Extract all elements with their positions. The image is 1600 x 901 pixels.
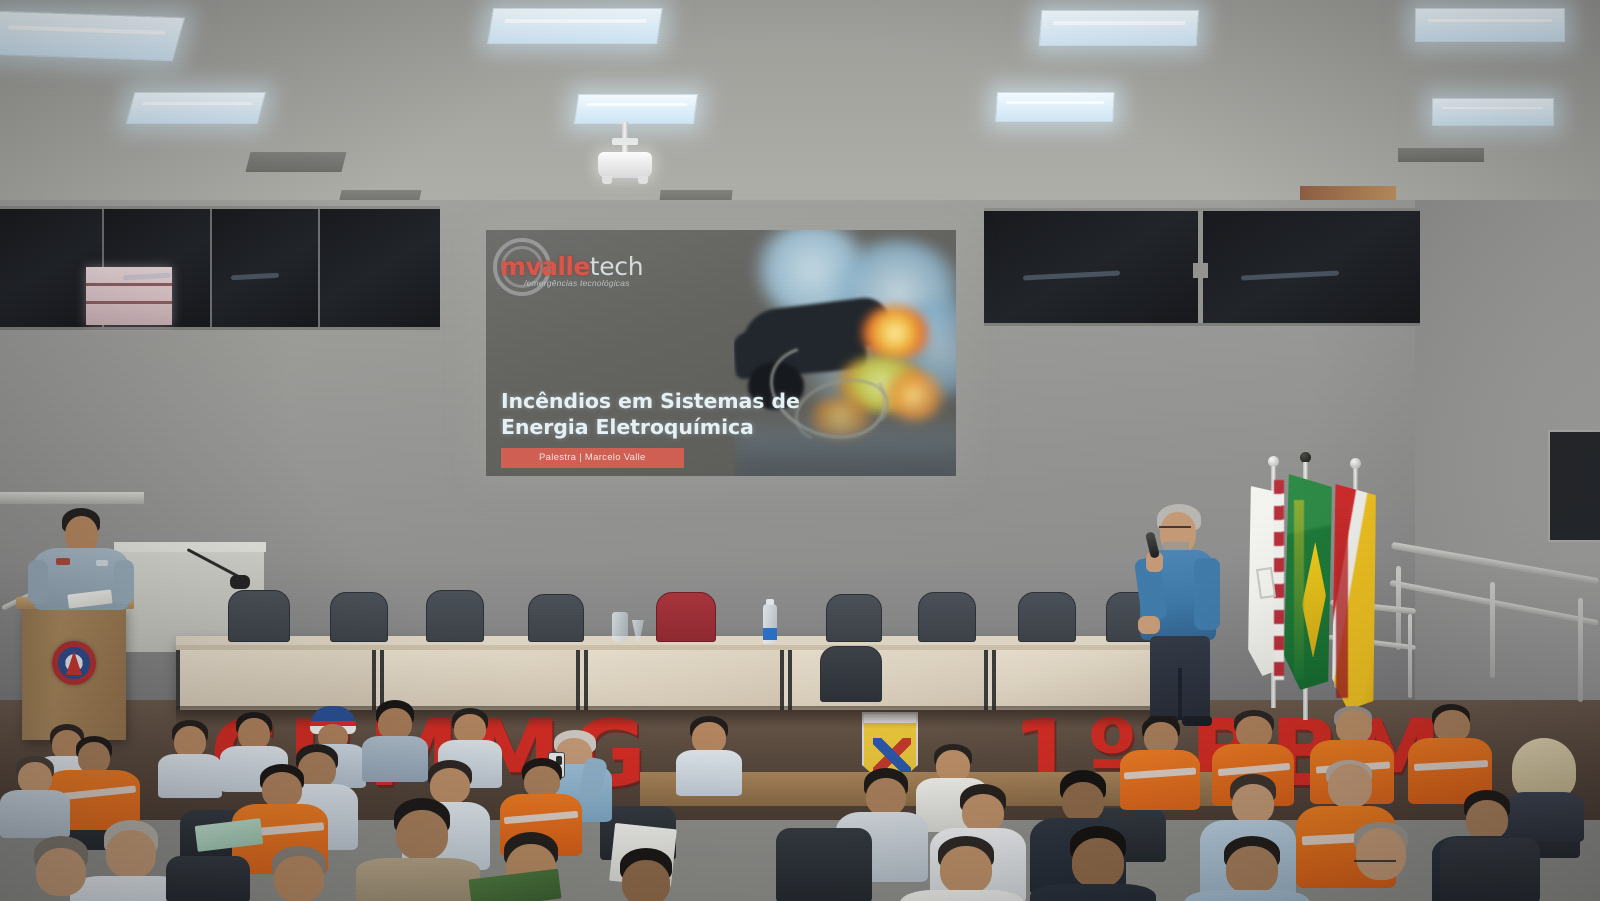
glass-pane xyxy=(320,209,440,327)
audience-chair xyxy=(776,828,872,901)
hand-gesture xyxy=(1138,616,1160,634)
table-microphone xyxy=(188,548,260,600)
wall-ledge xyxy=(0,492,144,504)
glass-pane xyxy=(984,211,1202,323)
rank-insignia xyxy=(96,560,108,566)
lit-window-behind-glass xyxy=(86,267,172,325)
audience-chair xyxy=(166,856,250,901)
audience-member xyxy=(1184,836,1310,901)
head xyxy=(274,856,324,901)
table-panel xyxy=(176,650,376,710)
glass-pane xyxy=(212,209,320,327)
arm xyxy=(1194,558,1220,630)
shirt xyxy=(0,790,70,838)
logo-secondary-text: tech xyxy=(590,252,644,281)
table-chair xyxy=(1018,592,1076,642)
table-panel xyxy=(584,650,784,710)
ceiling-light-panel-off xyxy=(246,152,347,172)
ceiling-light-panel xyxy=(487,8,663,44)
audience-member xyxy=(676,716,742,794)
ceiling-light-panel xyxy=(1039,10,1200,46)
tinted-glass-band-left xyxy=(0,206,440,330)
trouser-split xyxy=(1178,668,1182,720)
ceiling-light-panel xyxy=(574,94,698,124)
ramp-post xyxy=(1490,582,1495,678)
head xyxy=(1072,838,1124,888)
shirt xyxy=(900,890,1024,901)
head xyxy=(962,794,1004,832)
glasses-icon xyxy=(1354,860,1396,864)
audience-member xyxy=(900,836,1024,901)
glasses-icon xyxy=(1159,526,1191,530)
slide-speaker-badge: Palestra | Marcelo Valle xyxy=(501,448,684,468)
presenter xyxy=(1132,504,1224,728)
head xyxy=(1226,846,1278,894)
shirt xyxy=(676,750,742,796)
head xyxy=(36,848,86,896)
ceiling-light-panel xyxy=(0,11,185,62)
bottle-cap xyxy=(766,599,774,605)
slide-title-line-2: Energia Eletroquímica xyxy=(501,414,800,440)
head xyxy=(396,810,448,860)
table-panel xyxy=(788,650,988,710)
table-chair xyxy=(426,590,484,642)
glass-pane xyxy=(1202,211,1420,323)
table-chair-red xyxy=(656,592,716,642)
flag-corps xyxy=(1336,458,1388,728)
head xyxy=(940,846,992,894)
corps-emblem-icon xyxy=(52,641,96,685)
head xyxy=(1466,800,1508,840)
wall-mounted-dark-panel xyxy=(1548,430,1600,542)
ceiling-light-panel xyxy=(1415,8,1565,42)
head xyxy=(1232,784,1274,824)
flag-cloth-stripe xyxy=(1274,480,1284,680)
shirt xyxy=(1030,884,1156,901)
table-chair xyxy=(826,594,882,642)
arm xyxy=(114,560,134,604)
flag-cloth-fold xyxy=(1294,500,1304,680)
bottle-label xyxy=(763,628,777,640)
hi-vis-jacket xyxy=(1120,750,1200,810)
shirt xyxy=(356,858,480,901)
audience-member xyxy=(1318,822,1438,901)
audience-member-hi-vis xyxy=(1120,716,1200,808)
ceiling xyxy=(0,0,1600,218)
shirt xyxy=(158,754,222,798)
projector-icon xyxy=(596,122,654,184)
head xyxy=(866,778,906,816)
audience-chair xyxy=(1440,838,1540,901)
table-chair xyxy=(918,592,976,642)
rank-insignia xyxy=(56,558,70,565)
glass-mullion-bracket xyxy=(1193,263,1208,278)
slide-logo: mvalletech /emergências tecnológicas xyxy=(500,252,643,281)
water-bottle xyxy=(763,604,777,644)
audience-member xyxy=(0,756,70,836)
flag-cloth-fold xyxy=(1336,498,1348,698)
head xyxy=(1356,828,1406,880)
officer-at-podium xyxy=(26,508,136,608)
ramp-post xyxy=(1578,598,1583,702)
audience-member xyxy=(1030,826,1156,901)
head xyxy=(1336,710,1372,744)
arm xyxy=(28,560,48,604)
side-chair xyxy=(820,646,882,702)
audience-member xyxy=(590,848,700,901)
audience-member xyxy=(240,846,356,901)
head-table xyxy=(176,636,1166,710)
glass-pane xyxy=(104,209,212,327)
audience-member xyxy=(0,836,120,901)
uniform-shirt xyxy=(1184,890,1310,901)
head xyxy=(1328,764,1372,808)
table-chair xyxy=(528,594,584,642)
slide-title-line-1: Incêndios em Sistemas de xyxy=(501,388,800,414)
ceiling-light-panel-off xyxy=(1398,148,1484,162)
ramp-post xyxy=(1408,614,1412,698)
head xyxy=(262,772,302,808)
audience-member xyxy=(356,798,480,901)
ceiling-light-panel xyxy=(995,92,1115,122)
auditorium-photo: mvalletech /emergências tecnológicas Inc… xyxy=(0,0,1600,901)
head xyxy=(622,860,670,901)
ceiling-light-panel xyxy=(126,92,267,124)
audience-member xyxy=(158,720,222,796)
table-chair xyxy=(330,592,388,642)
tinted-glass-band-right xyxy=(984,208,1420,326)
water-carafe xyxy=(612,612,628,642)
head xyxy=(1062,782,1104,822)
projected-slide: mvalletech /emergências tecnológicas Inc… xyxy=(486,230,956,476)
lectern xyxy=(22,605,126,740)
ceiling-light-panel xyxy=(1432,98,1554,126)
audience-member-hi-vis xyxy=(1408,704,1492,802)
slide-title: Incêndios em Sistemas de Energia Eletroq… xyxy=(501,388,800,440)
logo-primary-text: mvalle xyxy=(500,252,590,281)
